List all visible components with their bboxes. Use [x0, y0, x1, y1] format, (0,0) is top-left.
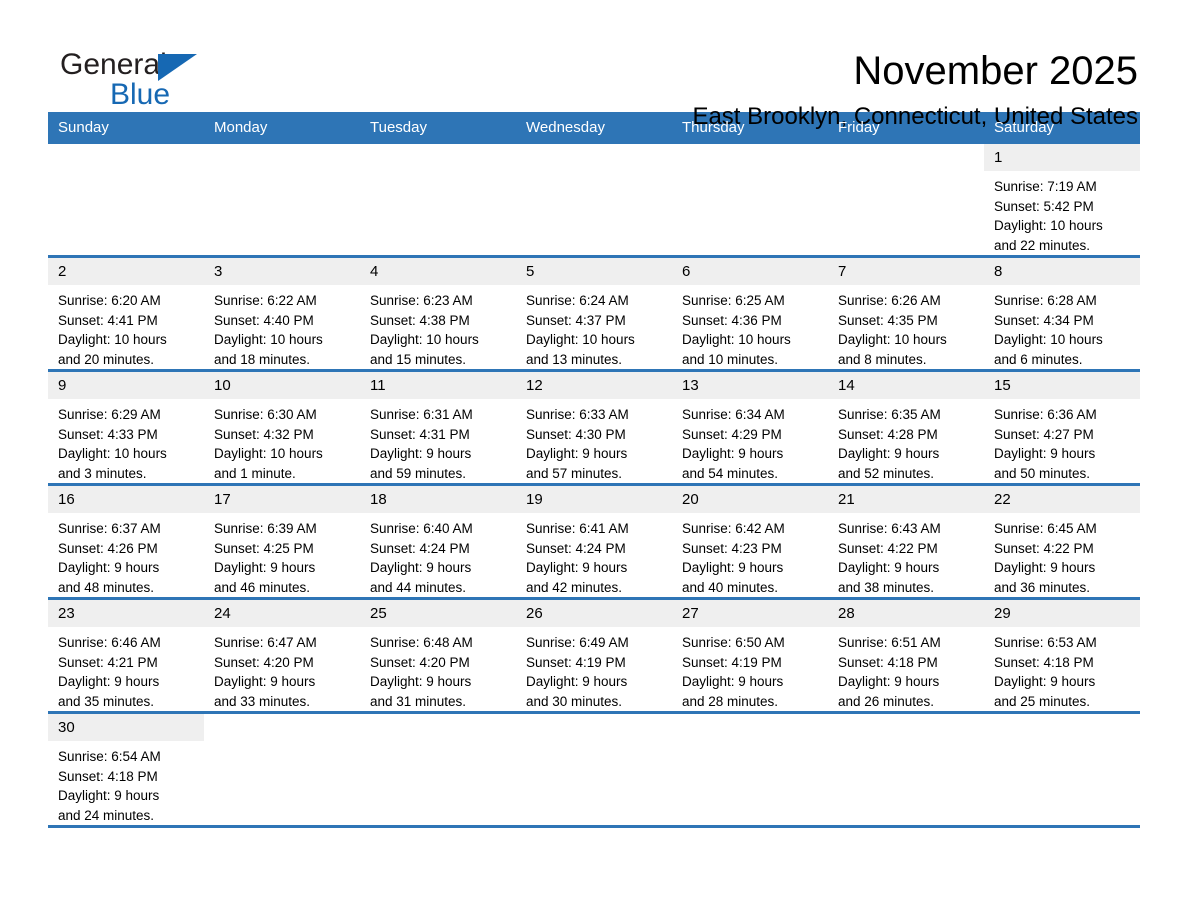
daylight-text-line2: and 57 minutes.	[526, 464, 664, 484]
calendar-day-cell[interactable]: 24Sunrise: 6:47 AMSunset: 4:20 PMDayligh…	[204, 599, 360, 713]
sunset-text: Sunset: 4:20 PM	[214, 653, 352, 673]
sunset-text: Sunset: 4:18 PM	[994, 653, 1132, 673]
calendar-day-cell[interactable]: 11Sunrise: 6:31 AMSunset: 4:31 PMDayligh…	[360, 371, 516, 485]
calendar-day-cell[interactable]: 20Sunrise: 6:42 AMSunset: 4:23 PMDayligh…	[672, 485, 828, 599]
day-number: 7	[828, 258, 984, 285]
calendar-day-cell-empty	[204, 144, 360, 257]
day-number: 19	[516, 486, 672, 513]
day-details: Sunrise: 6:37 AMSunset: 4:26 PMDaylight:…	[48, 513, 204, 597]
daylight-text-line2: and 18 minutes.	[214, 350, 352, 370]
calendar-day-cell[interactable]: 17Sunrise: 6:39 AMSunset: 4:25 PMDayligh…	[204, 485, 360, 599]
sunrise-text: Sunrise: 6:37 AM	[58, 519, 196, 539]
sunset-text: Sunset: 4:32 PM	[214, 425, 352, 445]
sunrise-text: Sunrise: 6:53 AM	[994, 633, 1132, 653]
calendar-week-row: 9Sunrise: 6:29 AMSunset: 4:33 PMDaylight…	[48, 371, 1140, 485]
daylight-text-line1: Daylight: 9 hours	[214, 558, 352, 578]
day-number-placeholder	[516, 714, 672, 741]
sunrise-text: Sunrise: 6:25 AM	[682, 291, 820, 311]
sunset-text: Sunset: 4:27 PM	[994, 425, 1132, 445]
calendar-page: General Blue November 2025 East Brooklyn…	[0, 0, 1188, 918]
calendar-day-cell[interactable]: 26Sunrise: 6:49 AMSunset: 4:19 PMDayligh…	[516, 599, 672, 713]
calendar-week-row: 23Sunrise: 6:46 AMSunset: 4:21 PMDayligh…	[48, 599, 1140, 713]
day-details: Sunrise: 6:25 AMSunset: 4:36 PMDaylight:…	[672, 285, 828, 369]
weekday-header-tuesday: Tuesday	[360, 112, 516, 144]
sunrise-text: Sunrise: 6:30 AM	[214, 405, 352, 425]
day-details: Sunrise: 6:20 AMSunset: 4:41 PMDaylight:…	[48, 285, 204, 369]
day-details: Sunrise: 6:39 AMSunset: 4:25 PMDaylight:…	[204, 513, 360, 597]
daylight-text-line2: and 15 minutes.	[370, 350, 508, 370]
calendar-day-cell[interactable]: 15Sunrise: 6:36 AMSunset: 4:27 PMDayligh…	[984, 371, 1140, 485]
day-details: Sunrise: 6:51 AMSunset: 4:18 PMDaylight:…	[828, 627, 984, 711]
page-title: November 2025	[692, 48, 1138, 94]
day-number: 29	[984, 600, 1140, 627]
day-number: 26	[516, 600, 672, 627]
day-number: 27	[672, 600, 828, 627]
daylight-text-line1: Daylight: 9 hours	[838, 558, 976, 578]
day-details: Sunrise: 6:47 AMSunset: 4:20 PMDaylight:…	[204, 627, 360, 711]
calendar-day-cell[interactable]: 18Sunrise: 6:40 AMSunset: 4:24 PMDayligh…	[360, 485, 516, 599]
sunrise-text: Sunrise: 6:24 AM	[526, 291, 664, 311]
daylight-text-line2: and 6 minutes.	[994, 350, 1132, 370]
sunset-text: Sunset: 4:19 PM	[526, 653, 664, 673]
calendar-body: 1Sunrise: 7:19 AMSunset: 5:42 PMDaylight…	[48, 144, 1140, 827]
sunset-text: Sunset: 4:29 PM	[682, 425, 820, 445]
daylight-text-line1: Daylight: 9 hours	[682, 672, 820, 692]
daylight-text-line1: Daylight: 9 hours	[370, 672, 508, 692]
page-header: General Blue November 2025 East Brooklyn…	[48, 0, 1140, 104]
daylight-text-line2: and 28 minutes.	[682, 692, 820, 712]
day-number: 14	[828, 372, 984, 399]
daylight-text-line1: Daylight: 9 hours	[370, 558, 508, 578]
day-details: Sunrise: 6:50 AMSunset: 4:19 PMDaylight:…	[672, 627, 828, 711]
daylight-text-line1: Daylight: 9 hours	[526, 558, 664, 578]
daylight-text-line1: Daylight: 10 hours	[58, 444, 196, 464]
daylight-text-line1: Daylight: 10 hours	[994, 216, 1132, 236]
sunset-text: Sunset: 4:23 PM	[682, 539, 820, 559]
day-number: 21	[828, 486, 984, 513]
sunset-text: Sunset: 4:21 PM	[58, 653, 196, 673]
sunset-text: Sunset: 5:42 PM	[994, 197, 1132, 217]
calendar-day-cell[interactable]: 4Sunrise: 6:23 AMSunset: 4:38 PMDaylight…	[360, 257, 516, 371]
sunset-text: Sunset: 4:24 PM	[370, 539, 508, 559]
sunrise-text: Sunrise: 6:48 AM	[370, 633, 508, 653]
calendar-day-cell[interactable]: 3Sunrise: 6:22 AMSunset: 4:40 PMDaylight…	[204, 257, 360, 371]
day-details: Sunrise: 6:43 AMSunset: 4:22 PMDaylight:…	[828, 513, 984, 597]
sunrise-text: Sunrise: 6:22 AM	[214, 291, 352, 311]
calendar-day-cell[interactable]: 16Sunrise: 6:37 AMSunset: 4:26 PMDayligh…	[48, 485, 204, 599]
calendar-day-cell[interactable]: 25Sunrise: 6:48 AMSunset: 4:20 PMDayligh…	[360, 599, 516, 713]
sunset-text: Sunset: 4:22 PM	[994, 539, 1132, 559]
day-number: 6	[672, 258, 828, 285]
calendar-day-cell[interactable]: 30Sunrise: 6:54 AMSunset: 4:18 PMDayligh…	[48, 713, 204, 827]
daylight-text-line1: Daylight: 9 hours	[994, 672, 1132, 692]
general-blue-logo[interactable]: General Blue	[48, 48, 248, 120]
daylight-text-line1: Daylight: 10 hours	[526, 330, 664, 350]
day-number: 16	[48, 486, 204, 513]
calendar-day-cell-empty	[984, 713, 1140, 827]
sunrise-text: Sunrise: 6:47 AM	[214, 633, 352, 653]
sunrise-text: Sunrise: 6:33 AM	[526, 405, 664, 425]
daylight-text-line2: and 46 minutes.	[214, 578, 352, 598]
day-number: 11	[360, 372, 516, 399]
calendar-day-cell-empty	[672, 144, 828, 257]
day-number-placeholder	[204, 714, 360, 741]
sunset-text: Sunset: 4:37 PM	[526, 311, 664, 331]
sunrise-text: Sunrise: 6:29 AM	[58, 405, 196, 425]
daylight-text-line2: and 48 minutes.	[58, 578, 196, 598]
day-number: 30	[48, 714, 204, 741]
daylight-text-line1: Daylight: 9 hours	[370, 444, 508, 464]
sunrise-text: Sunrise: 6:54 AM	[58, 747, 196, 767]
day-number: 9	[48, 372, 204, 399]
calendar-day-cell[interactable]: 12Sunrise: 6:33 AMSunset: 4:30 PMDayligh…	[516, 371, 672, 485]
day-details: Sunrise: 6:46 AMSunset: 4:21 PMDaylight:…	[48, 627, 204, 711]
daylight-text-line1: Daylight: 9 hours	[838, 444, 976, 464]
day-details: Sunrise: 6:40 AMSunset: 4:24 PMDaylight:…	[360, 513, 516, 597]
sunset-text: Sunset: 4:24 PM	[526, 539, 664, 559]
daylight-text-line1: Daylight: 9 hours	[526, 444, 664, 464]
day-details: Sunrise: 6:45 AMSunset: 4:22 PMDaylight:…	[984, 513, 1140, 597]
daylight-text-line1: Daylight: 10 hours	[58, 330, 196, 350]
daylight-text-line1: Daylight: 9 hours	[682, 444, 820, 464]
daylight-text-line2: and 50 minutes.	[994, 464, 1132, 484]
day-details: Sunrise: 6:42 AMSunset: 4:23 PMDaylight:…	[672, 513, 828, 597]
daylight-text-line2: and 44 minutes.	[370, 578, 508, 598]
daylight-text-line1: Daylight: 9 hours	[214, 672, 352, 692]
day-number: 17	[204, 486, 360, 513]
daylight-text-line1: Daylight: 9 hours	[838, 672, 976, 692]
sunrise-text: Sunrise: 6:35 AM	[838, 405, 976, 425]
day-number: 13	[672, 372, 828, 399]
sunrise-text: Sunrise: 6:31 AM	[370, 405, 508, 425]
day-number-placeholder	[360, 144, 516, 171]
calendar-day-cell[interactable]: 23Sunrise: 6:46 AMSunset: 4:21 PMDayligh…	[48, 599, 204, 713]
calendar-day-cell-empty	[516, 713, 672, 827]
day-number: 8	[984, 258, 1140, 285]
day-number: 22	[984, 486, 1140, 513]
day-details: Sunrise: 6:23 AMSunset: 4:38 PMDaylight:…	[360, 285, 516, 369]
sunset-text: Sunset: 4:35 PM	[838, 311, 976, 331]
logo-triangle-icon	[158, 54, 197, 81]
day-number: 12	[516, 372, 672, 399]
daylight-text-line2: and 30 minutes.	[526, 692, 664, 712]
sunset-text: Sunset: 4:18 PM	[838, 653, 976, 673]
calendar-day-cell-empty	[828, 144, 984, 257]
calendar-day-cell[interactable]: 13Sunrise: 6:34 AMSunset: 4:29 PMDayligh…	[672, 371, 828, 485]
sunrise-text: Sunrise: 7:19 AM	[994, 177, 1132, 197]
sunset-text: Sunset: 4:38 PM	[370, 311, 508, 331]
sunrise-text: Sunrise: 6:46 AM	[58, 633, 196, 653]
daylight-text-line2: and 35 minutes.	[58, 692, 196, 712]
daylight-text-line2: and 36 minutes.	[994, 578, 1132, 598]
sunrise-text: Sunrise: 6:39 AM	[214, 519, 352, 539]
sunset-text: Sunset: 4:31 PM	[370, 425, 508, 445]
day-details: Sunrise: 6:49 AMSunset: 4:19 PMDaylight:…	[516, 627, 672, 711]
daylight-text-line2: and 52 minutes.	[838, 464, 976, 484]
day-details: Sunrise: 6:26 AMSunset: 4:35 PMDaylight:…	[828, 285, 984, 369]
daylight-text-line2: and 20 minutes.	[58, 350, 196, 370]
day-details: Sunrise: 6:30 AMSunset: 4:32 PMDaylight:…	[204, 399, 360, 483]
calendar-day-cell[interactable]: 22Sunrise: 6:45 AMSunset: 4:22 PMDayligh…	[984, 485, 1140, 599]
sunrise-text: Sunrise: 6:49 AM	[526, 633, 664, 653]
sunrise-text: Sunrise: 6:50 AM	[682, 633, 820, 653]
day-number-placeholder	[516, 144, 672, 171]
sunset-text: Sunset: 4:30 PM	[526, 425, 664, 445]
calendar-day-cell[interactable]: 8Sunrise: 6:28 AMSunset: 4:34 PMDaylight…	[984, 257, 1140, 371]
day-details: Sunrise: 6:24 AMSunset: 4:37 PMDaylight:…	[516, 285, 672, 369]
daylight-text-line1: Daylight: 10 hours	[682, 330, 820, 350]
day-details: Sunrise: 6:54 AMSunset: 4:18 PMDaylight:…	[48, 741, 204, 825]
day-details: Sunrise: 6:41 AMSunset: 4:24 PMDaylight:…	[516, 513, 672, 597]
calendar-day-cell[interactable]: 6Sunrise: 6:25 AMSunset: 4:36 PMDaylight…	[672, 257, 828, 371]
sunset-text: Sunset: 4:41 PM	[58, 311, 196, 331]
daylight-text-line2: and 26 minutes.	[838, 692, 976, 712]
sunrise-text: Sunrise: 6:51 AM	[838, 633, 976, 653]
calendar-day-cell[interactable]: 9Sunrise: 6:29 AMSunset: 4:33 PMDaylight…	[48, 371, 204, 485]
title-block: November 2025 East Brooklyn, Connecticut…	[692, 48, 1140, 132]
daylight-text-line1: Daylight: 10 hours	[838, 330, 976, 350]
day-number: 3	[204, 258, 360, 285]
daylight-text-line2: and 31 minutes.	[370, 692, 508, 712]
sunrise-text: Sunrise: 6:23 AM	[370, 291, 508, 311]
day-number-placeholder	[672, 144, 828, 171]
calendar-week-row: 16Sunrise: 6:37 AMSunset: 4:26 PMDayligh…	[48, 485, 1140, 599]
day-details: Sunrise: 6:34 AMSunset: 4:29 PMDaylight:…	[672, 399, 828, 483]
sunrise-text: Sunrise: 6:28 AM	[994, 291, 1132, 311]
calendar-day-cell-empty	[828, 713, 984, 827]
sunset-text: Sunset: 4:25 PM	[214, 539, 352, 559]
sunrise-text: Sunrise: 6:40 AM	[370, 519, 508, 539]
daylight-text-line1: Daylight: 9 hours	[58, 786, 196, 806]
sunset-text: Sunset: 4:40 PM	[214, 311, 352, 331]
day-details: Sunrise: 6:29 AMSunset: 4:33 PMDaylight:…	[48, 399, 204, 483]
calendar-day-cell-empty	[48, 144, 204, 257]
calendar-day-cell[interactable]: 29Sunrise: 6:53 AMSunset: 4:18 PMDayligh…	[984, 599, 1140, 713]
calendar-day-cell-empty	[360, 144, 516, 257]
sunrise-text: Sunrise: 6:43 AM	[838, 519, 976, 539]
daylight-text-line1: Daylight: 9 hours	[994, 444, 1132, 464]
daylight-text-line2: and 3 minutes.	[58, 464, 196, 484]
daylight-text-line2: and 24 minutes.	[58, 806, 196, 826]
day-details: Sunrise: 6:35 AMSunset: 4:28 PMDaylight:…	[828, 399, 984, 483]
calendar-day-cell[interactable]: 19Sunrise: 6:41 AMSunset: 4:24 PMDayligh…	[516, 485, 672, 599]
day-details: Sunrise: 6:28 AMSunset: 4:34 PMDaylight:…	[984, 285, 1140, 369]
logo-word-blue: Blue	[110, 80, 248, 110]
day-number-placeholder	[828, 714, 984, 741]
daylight-text-line1: Daylight: 9 hours	[58, 558, 196, 578]
sunrise-text: Sunrise: 6:36 AM	[994, 405, 1132, 425]
sunrise-text: Sunrise: 6:34 AM	[682, 405, 820, 425]
sunrise-text: Sunrise: 6:42 AM	[682, 519, 820, 539]
day-details: Sunrise: 7:19 AMSunset: 5:42 PMDaylight:…	[984, 171, 1140, 255]
calendar-day-cell[interactable]: 2Sunrise: 6:20 AMSunset: 4:41 PMDaylight…	[48, 257, 204, 371]
day-number: 4	[360, 258, 516, 285]
sunrise-text: Sunrise: 6:20 AM	[58, 291, 196, 311]
day-number: 10	[204, 372, 360, 399]
daylight-text-line2: and 8 minutes.	[838, 350, 976, 370]
day-number-placeholder	[48, 144, 204, 171]
day-number-placeholder	[360, 714, 516, 741]
sunset-text: Sunset: 4:22 PM	[838, 539, 976, 559]
day-number-placeholder	[984, 714, 1140, 741]
day-number: 15	[984, 372, 1140, 399]
calendar-day-cell[interactable]: 1Sunrise: 7:19 AMSunset: 5:42 PMDaylight…	[984, 144, 1140, 257]
daylight-text-line2: and 33 minutes.	[214, 692, 352, 712]
daylight-text-line1: Daylight: 9 hours	[58, 672, 196, 692]
daylight-text-line2: and 25 minutes.	[994, 692, 1132, 712]
day-number: 2	[48, 258, 204, 285]
calendar-day-cell[interactable]: 14Sunrise: 6:35 AMSunset: 4:28 PMDayligh…	[828, 371, 984, 485]
weekday-header-wednesday: Wednesday	[516, 112, 672, 144]
day-number: 28	[828, 600, 984, 627]
day-number: 18	[360, 486, 516, 513]
day-number: 23	[48, 600, 204, 627]
daylight-text-line1: Daylight: 9 hours	[526, 672, 664, 692]
calendar-day-cell[interactable]: 5Sunrise: 6:24 AMSunset: 4:37 PMDaylight…	[516, 257, 672, 371]
day-number-placeholder	[828, 144, 984, 171]
logo-word-general: General	[60, 48, 167, 81]
daylight-text-line2: and 54 minutes.	[682, 464, 820, 484]
daylight-text-line1: Daylight: 10 hours	[994, 330, 1132, 350]
calendar-day-cell-empty	[672, 713, 828, 827]
daylight-text-line1: Daylight: 9 hours	[994, 558, 1132, 578]
daylight-text-line2: and 38 minutes.	[838, 578, 976, 598]
daylight-text-line1: Daylight: 10 hours	[214, 330, 352, 350]
calendar-day-cell[interactable]: 27Sunrise: 6:50 AMSunset: 4:19 PMDayligh…	[672, 599, 828, 713]
day-number: 24	[204, 600, 360, 627]
daylight-text-line2: and 13 minutes.	[526, 350, 664, 370]
calendar-day-cell[interactable]: 7Sunrise: 6:26 AMSunset: 4:35 PMDaylight…	[828, 257, 984, 371]
calendar-day-cell[interactable]: 28Sunrise: 6:51 AMSunset: 4:18 PMDayligh…	[828, 599, 984, 713]
day-number: 1	[984, 144, 1140, 171]
sunset-text: Sunset: 4:33 PM	[58, 425, 196, 445]
sunrise-text: Sunrise: 6:41 AM	[526, 519, 664, 539]
sunset-text: Sunset: 4:28 PM	[838, 425, 976, 445]
day-number: 20	[672, 486, 828, 513]
calendar-day-cell[interactable]: 21Sunrise: 6:43 AMSunset: 4:22 PMDayligh…	[828, 485, 984, 599]
day-number: 25	[360, 600, 516, 627]
sunset-text: Sunset: 4:36 PM	[682, 311, 820, 331]
daylight-text-line1: Daylight: 10 hours	[370, 330, 508, 350]
sunrise-sunset-calendar: Sunday Monday Tuesday Wednesday Thursday…	[48, 112, 1140, 828]
calendar-day-cell[interactable]: 10Sunrise: 6:30 AMSunset: 4:32 PMDayligh…	[204, 371, 360, 485]
calendar-week-row: 2Sunrise: 6:20 AMSunset: 4:41 PMDaylight…	[48, 257, 1140, 371]
calendar-week-row: 30Sunrise: 6:54 AMSunset: 4:18 PMDayligh…	[48, 713, 1140, 827]
sunrise-text: Sunrise: 6:45 AM	[994, 519, 1132, 539]
day-details: Sunrise: 6:36 AMSunset: 4:27 PMDaylight:…	[984, 399, 1140, 483]
sunrise-text: Sunrise: 6:26 AM	[838, 291, 976, 311]
sunset-text: Sunset: 4:34 PM	[994, 311, 1132, 331]
day-number-placeholder	[672, 714, 828, 741]
day-details: Sunrise: 6:53 AMSunset: 4:18 PMDaylight:…	[984, 627, 1140, 711]
day-details: Sunrise: 6:33 AMSunset: 4:30 PMDaylight:…	[516, 399, 672, 483]
daylight-text-line2: and 59 minutes.	[370, 464, 508, 484]
sunset-text: Sunset: 4:18 PM	[58, 767, 196, 787]
day-number-placeholder	[204, 144, 360, 171]
calendar-day-cell-empty	[204, 713, 360, 827]
sunset-text: Sunset: 4:26 PM	[58, 539, 196, 559]
calendar-day-cell-empty	[516, 144, 672, 257]
calendar-day-cell-empty	[360, 713, 516, 827]
calendar-week-row: 1Sunrise: 7:19 AMSunset: 5:42 PMDaylight…	[48, 144, 1140, 257]
daylight-text-line2: and 1 minute.	[214, 464, 352, 484]
daylight-text-line1: Daylight: 10 hours	[214, 444, 352, 464]
sunset-text: Sunset: 4:19 PM	[682, 653, 820, 673]
day-details: Sunrise: 6:48 AMSunset: 4:20 PMDaylight:…	[360, 627, 516, 711]
day-number: 5	[516, 258, 672, 285]
daylight-text-line2: and 42 minutes.	[526, 578, 664, 598]
sunset-text: Sunset: 4:20 PM	[370, 653, 508, 673]
location-subtitle: East Brooklyn, Connecticut, United State…	[692, 102, 1138, 132]
daylight-text-line1: Daylight: 9 hours	[682, 558, 820, 578]
day-details: Sunrise: 6:31 AMSunset: 4:31 PMDaylight:…	[360, 399, 516, 483]
daylight-text-line2: and 22 minutes.	[994, 236, 1132, 256]
day-details: Sunrise: 6:22 AMSunset: 4:40 PMDaylight:…	[204, 285, 360, 369]
daylight-text-line2: and 10 minutes.	[682, 350, 820, 370]
daylight-text-line2: and 40 minutes.	[682, 578, 820, 598]
